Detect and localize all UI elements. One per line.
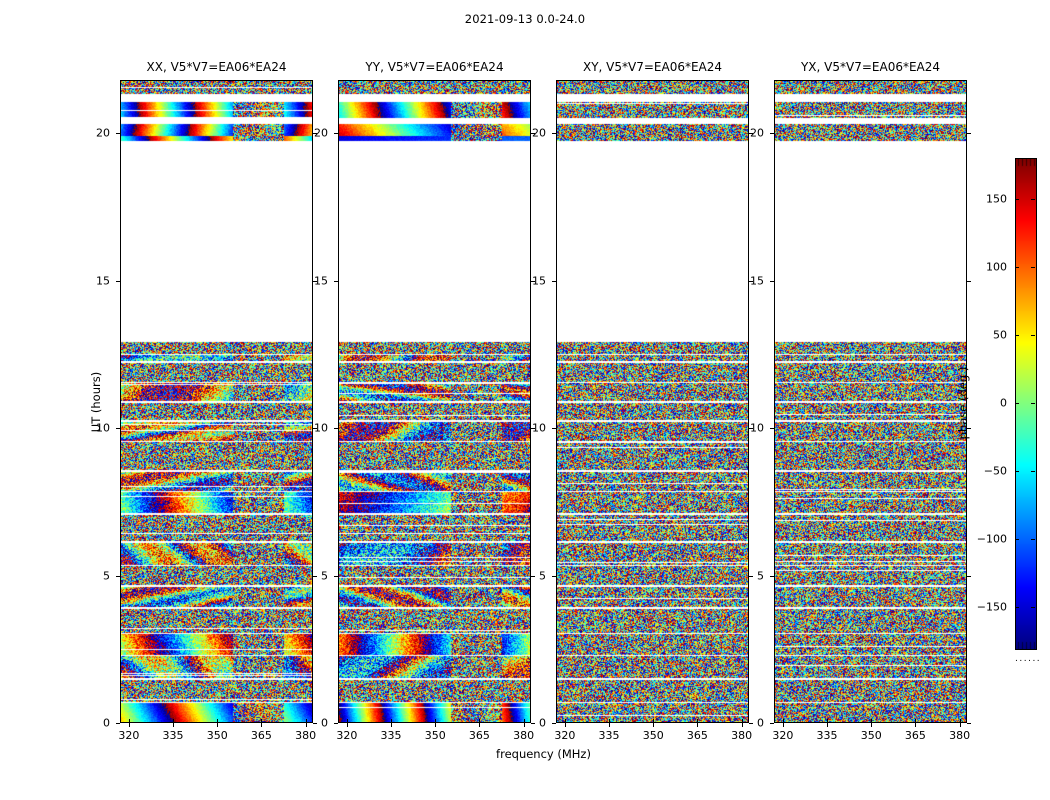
xtick [742, 723, 743, 727]
colorbar-ticklabel: 0 [1000, 397, 1007, 410]
colorbar-ticklabel: 100 [986, 260, 1007, 273]
xticklabel: 380 [513, 729, 534, 742]
ytick [116, 428, 120, 429]
xtick-inner [871, 719, 872, 723]
xticklabel: 365 [687, 729, 708, 742]
yticklabel: 5 [321, 569, 328, 582]
colorbar-under-marker: ...... [1015, 654, 1041, 664]
colorbar-tick-right [1031, 267, 1035, 268]
yticklabel: 0 [539, 717, 546, 730]
xticklabel: 380 [949, 729, 970, 742]
ytick-right [313, 723, 317, 724]
colorbar-tick [1015, 607, 1019, 608]
colorbar-tick-right [1031, 539, 1035, 540]
ytick [552, 133, 556, 134]
xticklabel: 320 [336, 729, 357, 742]
colorbar-tick-right [1031, 471, 1035, 472]
xtick-inner [915, 719, 916, 723]
panel-xy: XY, V5*V7=EA06*EA24320335350365380051015… [556, 80, 749, 723]
colorbar-tick [1015, 539, 1019, 540]
yticklabel: 0 [103, 717, 110, 730]
colorbar-tick [1015, 199, 1019, 200]
ytick [770, 576, 774, 577]
ytick-right [313, 576, 317, 577]
xticklabel: 350 [425, 729, 446, 742]
yticklabel: 20 [314, 127, 328, 140]
ytick [770, 723, 774, 724]
xticklabel: 380 [731, 729, 752, 742]
xticklabel: 350 [643, 729, 664, 742]
colorbar-tick-right [1031, 403, 1035, 404]
xtick [524, 723, 525, 727]
xtick-inner [742, 719, 743, 723]
ytick [116, 133, 120, 134]
xtick-inner [217, 719, 218, 723]
xticklabel: 365 [251, 729, 272, 742]
ytick [770, 281, 774, 282]
ytick [552, 428, 556, 429]
xtick-inner [653, 719, 654, 723]
colorbar-ticklabel: 150 [986, 192, 1007, 205]
xtick [129, 723, 130, 727]
xtick [960, 723, 961, 727]
yticklabel: 0 [757, 717, 764, 730]
xtick-inner [827, 719, 828, 723]
xtick [217, 723, 218, 727]
xticklabel: 350 [861, 729, 882, 742]
colorbar-tick [1015, 471, 1019, 472]
yticklabel: 15 [314, 274, 328, 287]
ytick-right [531, 576, 535, 577]
yticklabel: 10 [750, 422, 764, 435]
colorbar: 150100500−50−100−150 phase (deg.) ...... [1015, 158, 1035, 648]
ytick-right [749, 723, 753, 724]
panel-yx: YX, V5*V7=EA06*EA24320335350365380051015… [774, 80, 967, 723]
ytick [552, 576, 556, 577]
xticklabel: 365 [469, 729, 490, 742]
xtick [306, 723, 307, 727]
panel-title-xx: XX, V5*V7=EA06*EA24 [147, 60, 287, 74]
xticklabel: 335 [381, 729, 402, 742]
xtick-inner [697, 719, 698, 723]
xticklabel: 335 [163, 729, 184, 742]
colorbar-gradient [1015, 158, 1037, 650]
xtick [565, 723, 566, 727]
ytick [770, 133, 774, 134]
xtick-inner [435, 719, 436, 723]
yticklabel: 15 [532, 274, 546, 287]
ytick [334, 133, 338, 134]
xticklabel: 350 [207, 729, 228, 742]
panel-xx: XX, V5*V7=EA06*EA24320335350365380051015… [120, 80, 313, 723]
xtick [609, 723, 610, 727]
xtick [783, 723, 784, 727]
ytick [770, 428, 774, 429]
xtick-inner [565, 719, 566, 723]
axes-area-yx[interactable] [774, 80, 967, 723]
yticklabel: 15 [96, 274, 110, 287]
colorbar-tick [1015, 335, 1019, 336]
yticklabel: 20 [750, 127, 764, 140]
xticklabel: 320 [118, 729, 139, 742]
ytick [334, 723, 338, 724]
xticklabel: 335 [599, 729, 620, 742]
yticklabel: 5 [757, 569, 764, 582]
xticklabel: 380 [295, 729, 316, 742]
ytick [116, 723, 120, 724]
yticklabel: 20 [532, 127, 546, 140]
colorbar-axis-label: phase (deg.) [956, 367, 970, 440]
ytick-right [967, 281, 971, 282]
xtick [173, 723, 174, 727]
xtick-inner [306, 719, 307, 723]
colorbar-tick [1015, 267, 1019, 268]
xtick [697, 723, 698, 727]
xtick [261, 723, 262, 727]
ytick [552, 281, 556, 282]
xtick-inner [479, 719, 480, 723]
xtick [827, 723, 828, 727]
xticklabel: 335 [817, 729, 838, 742]
ytick-right [967, 576, 971, 577]
colorbar-tick-right [1031, 199, 1035, 200]
x-axis-label: frequency (MHz) [496, 747, 591, 761]
waterfall-image-xy [557, 81, 748, 722]
xtick [435, 723, 436, 727]
xtick-inner [609, 719, 610, 723]
xticklabel: 320 [554, 729, 575, 742]
panel-title-yx: YX, V5*V7=EA06*EA24 [801, 60, 940, 74]
ytick-right [531, 723, 535, 724]
colorbar-tick-right [1031, 335, 1035, 336]
xtick-inner [783, 719, 784, 723]
xtick-inner [347, 719, 348, 723]
xtick-inner [261, 719, 262, 723]
figure-canvas: 2021-09-13 0.0-24.0 XX, V5*V7=EA06*EA243… [0, 0, 1050, 800]
ytick [334, 576, 338, 577]
colorbar-ticklabel: 50 [993, 328, 1007, 341]
yticklabel: 20 [96, 127, 110, 140]
panel-yy: YY, V5*V7=EA06*EA24320335350365380051015… [338, 80, 531, 723]
xtick [915, 723, 916, 727]
xtick-inner [129, 719, 130, 723]
waterfall-image-yy [339, 81, 530, 722]
panel-title-yy: YY, V5*V7=EA06*EA24 [365, 60, 503, 74]
ytick-right [967, 133, 971, 134]
colorbar-ticklabel: −100 [977, 533, 1007, 546]
panel-title-xy: XY, V5*V7=EA06*EA24 [583, 60, 722, 74]
ytick [552, 723, 556, 724]
xtick-inner [173, 719, 174, 723]
ytick-right [967, 723, 971, 724]
waterfall-image-xx [121, 81, 312, 722]
xtick [653, 723, 654, 727]
waterfall-image-yx [775, 81, 966, 722]
xticklabel: 320 [772, 729, 793, 742]
yticklabel: 5 [103, 569, 110, 582]
axes-area-yy[interactable] [338, 80, 531, 723]
axes-area-xx[interactable] [120, 80, 313, 723]
xticklabel: 365 [905, 729, 926, 742]
colorbar-ticklabel: −150 [977, 601, 1007, 614]
yticklabel: 10 [314, 422, 328, 435]
ytick [334, 428, 338, 429]
xtick [391, 723, 392, 727]
xtick-inner [960, 719, 961, 723]
yticklabel: 15 [750, 274, 764, 287]
figure-suptitle: 2021-09-13 0.0-24.0 [0, 12, 1050, 26]
ytick [116, 576, 120, 577]
yticklabel: 0 [321, 717, 328, 730]
axes-area-xy[interactable] [556, 80, 749, 723]
ytick [116, 281, 120, 282]
colorbar-tick [1015, 403, 1019, 404]
ytick-right [749, 576, 753, 577]
xtick-inner [391, 719, 392, 723]
colorbar-tick-right [1031, 607, 1035, 608]
xtick-inner [524, 719, 525, 723]
y-axis-label: UT (hours) [89, 371, 103, 431]
yticklabel: 10 [532, 422, 546, 435]
yticklabel: 5 [539, 569, 546, 582]
ytick [334, 281, 338, 282]
xtick [347, 723, 348, 727]
xtick [871, 723, 872, 727]
xtick [479, 723, 480, 727]
colorbar-ticklabel: −50 [984, 465, 1007, 478]
